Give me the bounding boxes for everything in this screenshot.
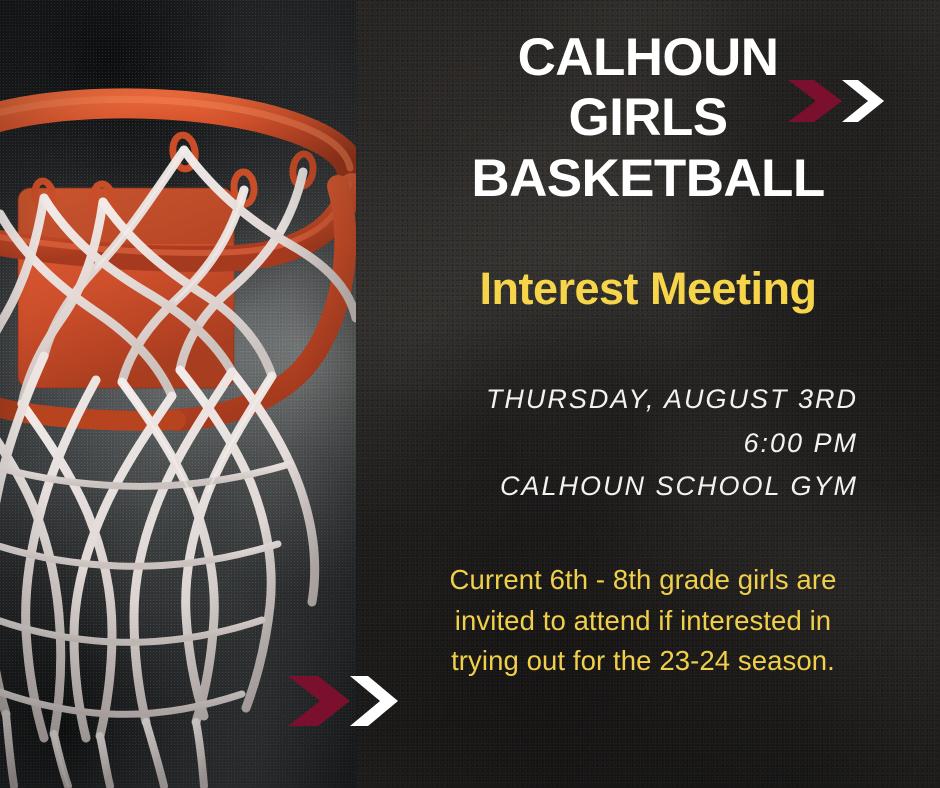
chevron-white-icon: [842, 80, 884, 122]
chevron-white-icon: [350, 676, 398, 726]
event-time: 6:00 PM: [390, 422, 858, 466]
subtitle-interest-meeting: Interest Meeting: [356, 264, 940, 314]
body-description: Current 6th - 8th grade girls are invite…: [398, 560, 888, 682]
body-line-3: trying out for the 23-24 season.: [398, 641, 888, 682]
poster-flyer: CALHOUN GIRLS BASKETBALL Interest Meetin…: [0, 0, 940, 788]
poster-content: CALHOUN GIRLS BASKETBALL Interest Meetin…: [0, 0, 940, 788]
headline-line-3: BASKETBALL: [356, 149, 940, 209]
event-location: CALHOUN SCHOOL GYM: [390, 465, 858, 509]
chevron-pair-bottom-left: [288, 676, 398, 726]
chevron-maroon-icon: [788, 80, 842, 122]
body-line-1: Current 6th - 8th grade girls are: [398, 560, 888, 601]
body-line-2: invited to attend if interested in: [398, 601, 888, 642]
chevron-pair-top-right: [788, 80, 884, 122]
event-details: THURSDAY, AUGUST 3RD 6:00 PM CALHOUN SCH…: [390, 378, 858, 509]
chevron-maroon-icon: [288, 676, 350, 726]
event-date: THURSDAY, AUGUST 3RD: [390, 378, 858, 422]
